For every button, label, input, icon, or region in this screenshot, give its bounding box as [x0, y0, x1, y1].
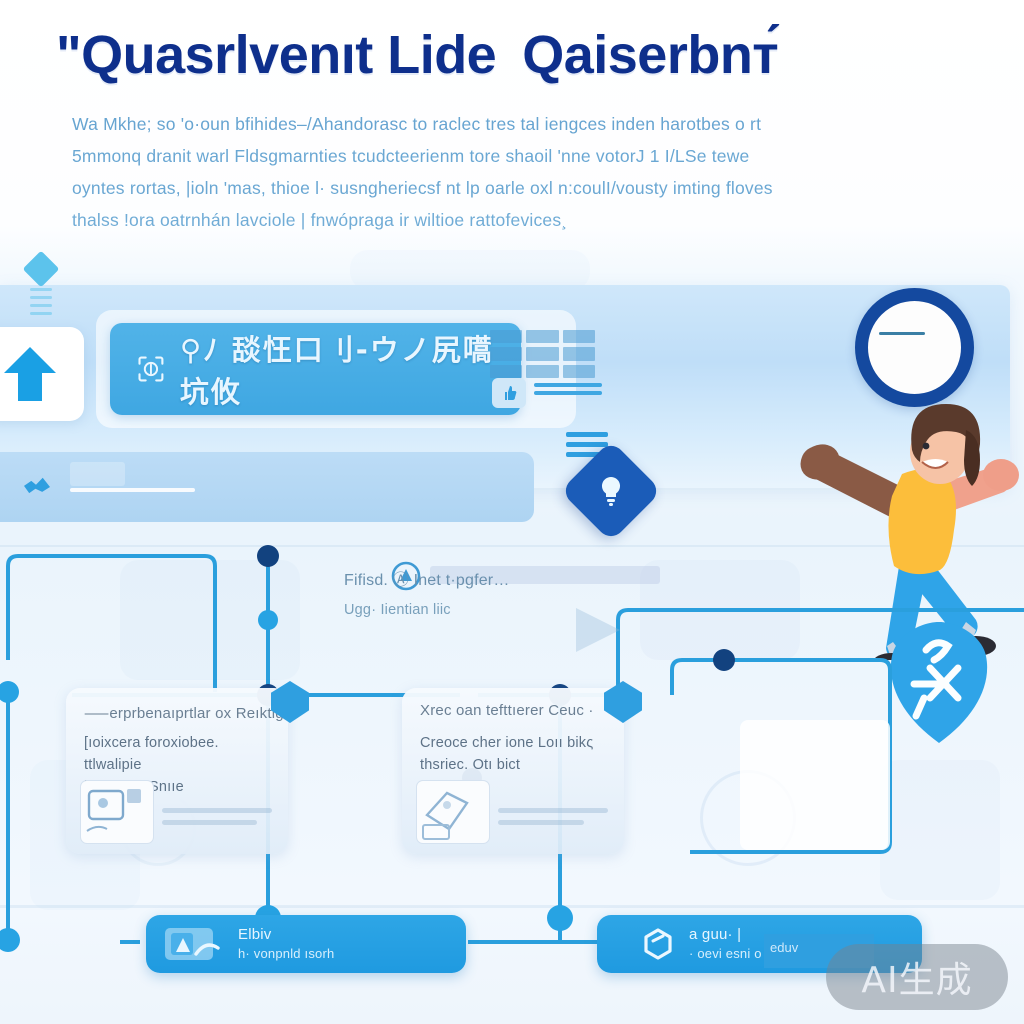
header-body-line-4: thalss !ora oatrnhán lavciole | fnwóprag… [72, 204, 972, 236]
header-body: Wa Mkhe; so 'o·oun bfihides–/Ahandorasc … [72, 108, 972, 236]
bottom-button-1-label-line-1: Elbiv [238, 926, 272, 943]
upload-card[interactable] [0, 327, 84, 421]
banner-lines-a [534, 383, 602, 403]
edu-tag-label: eduv [770, 940, 798, 955]
hexagon-outline-icon [641, 927, 675, 961]
lightbulb-icon [593, 473, 629, 509]
secondary-bar-placeholder-block [70, 462, 125, 486]
header-body-line-3: oyntes rortas, |ioln 'mas, thioe l· susn… [72, 172, 972, 204]
media-thumbnail-icon [162, 924, 224, 964]
marker-stack-lines [30, 288, 52, 320]
glyph-grid-icon [490, 330, 595, 378]
white-preview-panel [740, 720, 890, 850]
flow-card-1[interactable]: ⸺erprbenaıprtlar ox Reıktignw [ıoixcera … [66, 688, 288, 854]
bottom-button-1[interactable]: Elbiv h· vonpnld ısorh [146, 915, 466, 973]
ring-dash-line [879, 332, 925, 335]
flow-card-1-body-line-1: [ıoixcera foroxiobee. ttlwalipie [84, 732, 274, 776]
play-triangle-icon [576, 608, 620, 652]
bottom-button-1-label: Elbiv h· vonpnld ısorh [238, 925, 334, 963]
page-title-part2: Qaiserbnт́ [522, 25, 778, 85]
page-title-part1: "Quasrlvenıt Lide [56, 25, 496, 85]
flow-card-2-body-line-1: Creoce cher ione Loıı bikς [420, 732, 610, 754]
diamond-marker-icon [23, 251, 60, 288]
ai-watermark: AI生成 [826, 944, 1008, 1010]
flow-card-1-lines [162, 808, 272, 832]
bottom-button-1-label-line-2: h· vonpnld ısorh [238, 944, 334, 963]
flow-card-2-lines [498, 808, 608, 832]
flow-card-2-title: Xrec oan tefttıerer Ceuc · [420, 702, 610, 719]
flow-card-1-title: ⸺erprbenaıprtlar ox Reıktignw [84, 702, 274, 723]
ai-watermark-label: AI生成 [861, 951, 972, 1003]
search-pill-text: ⚲ﾉ 舕忹口刂‐ウノ尻嚆 坑攸 [180, 327, 521, 411]
header-body-line-1: Wa Mkhe; so 'o·oun bfihides–/Ahandorasc … [72, 108, 972, 140]
flow-card-2[interactable]: Xrec oan tefttıerer Ceuc · Creoce cher i… [402, 688, 624, 854]
header-body-line-2: 5mmonq dranit warl Fldsgmarnties tcudcte… [72, 140, 972, 172]
slide-canvas: "Quasrlvenıt LideQaiserbnт́ Wa Mkhe; so … [0, 0, 1024, 1024]
secondary-bar-underline [70, 488, 195, 492]
up-arrow-icon [2, 345, 58, 403]
search-pill[interactable]: ⚲ﾉ 舕忹口刂‐ウノ尻嚆 坑攸 [110, 323, 521, 415]
top-node-line-1: Fifisd. Ⓐ Inet t·pgfer… [344, 566, 664, 590]
page-title: "Quasrlvenıt LideQaiserbnт́ [56, 24, 956, 86]
bottom-button-2-label-line-1: a ɡuu· | [689, 926, 741, 943]
image-thumb-icon [416, 780, 490, 844]
image-thumb-icon [80, 780, 154, 844]
flow-card-2-body: Creoce cher ione Loıı bikς thsriec. Otı … [420, 732, 610, 776]
flow-card-2-body-line-2: thsriec. Otı bict [420, 754, 610, 776]
thumbs-up-icon [500, 384, 518, 402]
scan-face-icon [136, 352, 166, 386]
